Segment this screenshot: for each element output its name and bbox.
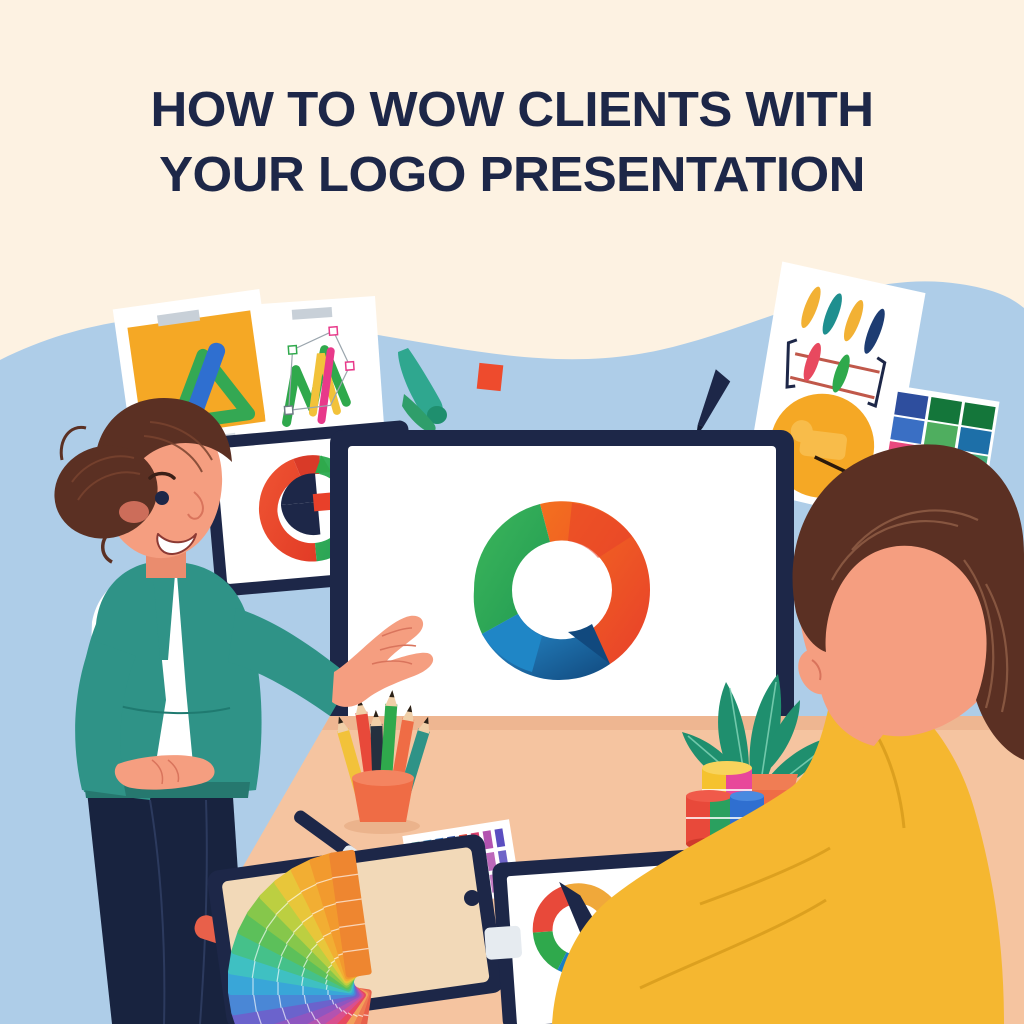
scene-illustration — [0, 0, 1024, 1024]
floating-square-red — [477, 363, 504, 391]
desk-dot — [464, 890, 480, 906]
swatch-cell — [961, 402, 995, 430]
swatch-cell — [928, 397, 962, 425]
illustration-canvas: HOW TO WOW CLIENTS WITH YOUR LOGO PRESEN… — [0, 0, 1024, 1024]
sticky-card-sketch — [257, 296, 384, 444]
swatch-cell — [894, 392, 928, 420]
swatch-cell — [890, 416, 924, 444]
